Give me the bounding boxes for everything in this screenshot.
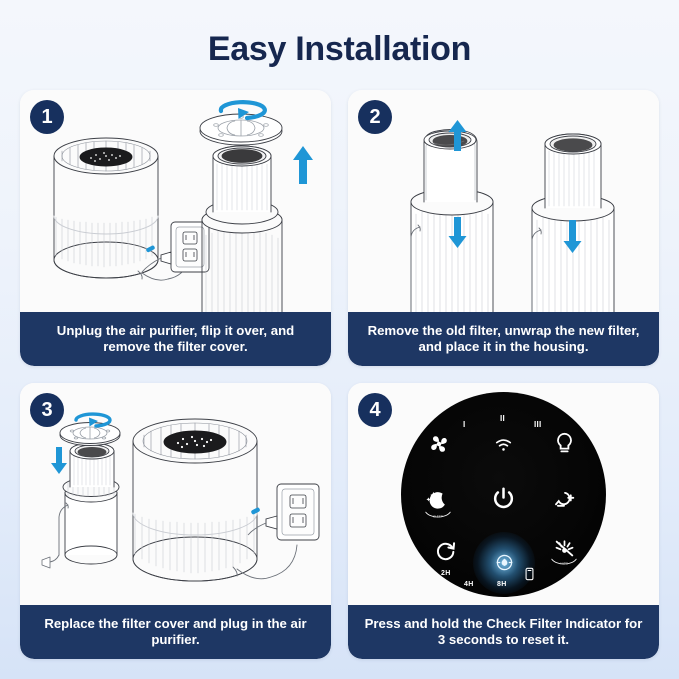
light-bulb-icon[interactable] <box>555 432 574 456</box>
fan-speed-mark-3: III <box>534 420 542 429</box>
step-panel-4: I II III <box>348 383 659 659</box>
fan-speed-mark-2: II <box>500 414 505 423</box>
step-panel-3: 3 Replace the filter cover and plug in t… <box>20 383 331 659</box>
page-title: Easy Installation <box>0 0 679 79</box>
step-4-illustration: I II III <box>348 383 659 605</box>
timer-mark-4h: 4H <box>464 581 474 588</box>
timer-mark-2h: 2H <box>441 570 451 577</box>
child-lock-icon[interactable] <box>525 567 534 581</box>
step-caption-4: Press and hold the Check Filter Indicato… <box>348 605 659 659</box>
step-3-illustration <box>20 383 331 605</box>
up-arrow-1 <box>293 146 313 184</box>
step-panel-2: 2 Remove the old filter, unwrap the new … <box>348 90 659 366</box>
fan-speed-mark-1: I <box>463 420 466 429</box>
step-number-badge-1: 1 <box>30 100 64 134</box>
step-number-badge-4: 4 <box>358 393 392 427</box>
fan-speed-icon[interactable] <box>427 432 451 456</box>
wall-outlet-1 <box>171 222 209 272</box>
filter-remove-and-insert-art <box>348 90 659 312</box>
step-panel-1: 1 Unplug the air purifier, flip it over,… <box>20 90 331 366</box>
svg-text:SLEEP: SLEEP <box>433 514 443 518</box>
step-caption-3: Replace the filter cover and plug in the… <box>20 605 331 659</box>
step-caption-1: Unplug the air purifier, flip it over, a… <box>20 312 331 366</box>
step-number-badge-2: 2 <box>358 100 392 134</box>
wifi-icon[interactable] <box>494 437 513 453</box>
svg-text:AUTO: AUTO <box>560 561 569 565</box>
timer-icon[interactable] <box>435 540 457 562</box>
sleep-mode-icon[interactable]: SLEEP <box>423 490 453 519</box>
auto-mode-icon[interactable]: AUTO <box>549 538 579 566</box>
step-caption-2: Remove the old filter, unwrap the new fi… <box>348 312 659 366</box>
air-quality-plus-icon[interactable] <box>553 490 578 512</box>
replace-cover-and-plug-in-art <box>20 383 331 605</box>
timer-mark-8h: 8H <box>497 581 507 588</box>
control-panel-disc[interactable]: I II III <box>401 392 606 597</box>
wall-outlet-3 <box>277 484 319 540</box>
air-purifier-unplug-and-flip-art <box>20 90 331 312</box>
down-arrow-3 <box>51 447 67 474</box>
step-1-illustration <box>20 90 331 312</box>
step-2-illustration <box>348 90 659 312</box>
step-number-badge-3: 3 <box>30 393 64 427</box>
installation-infographic: Easy Installation <box>0 0 679 679</box>
filter-cover-disc-1 <box>200 114 282 145</box>
steps-grid: 1 Unplug the air purifier, flip it over,… <box>20 90 659 659</box>
power-icon[interactable] <box>491 486 516 511</box>
